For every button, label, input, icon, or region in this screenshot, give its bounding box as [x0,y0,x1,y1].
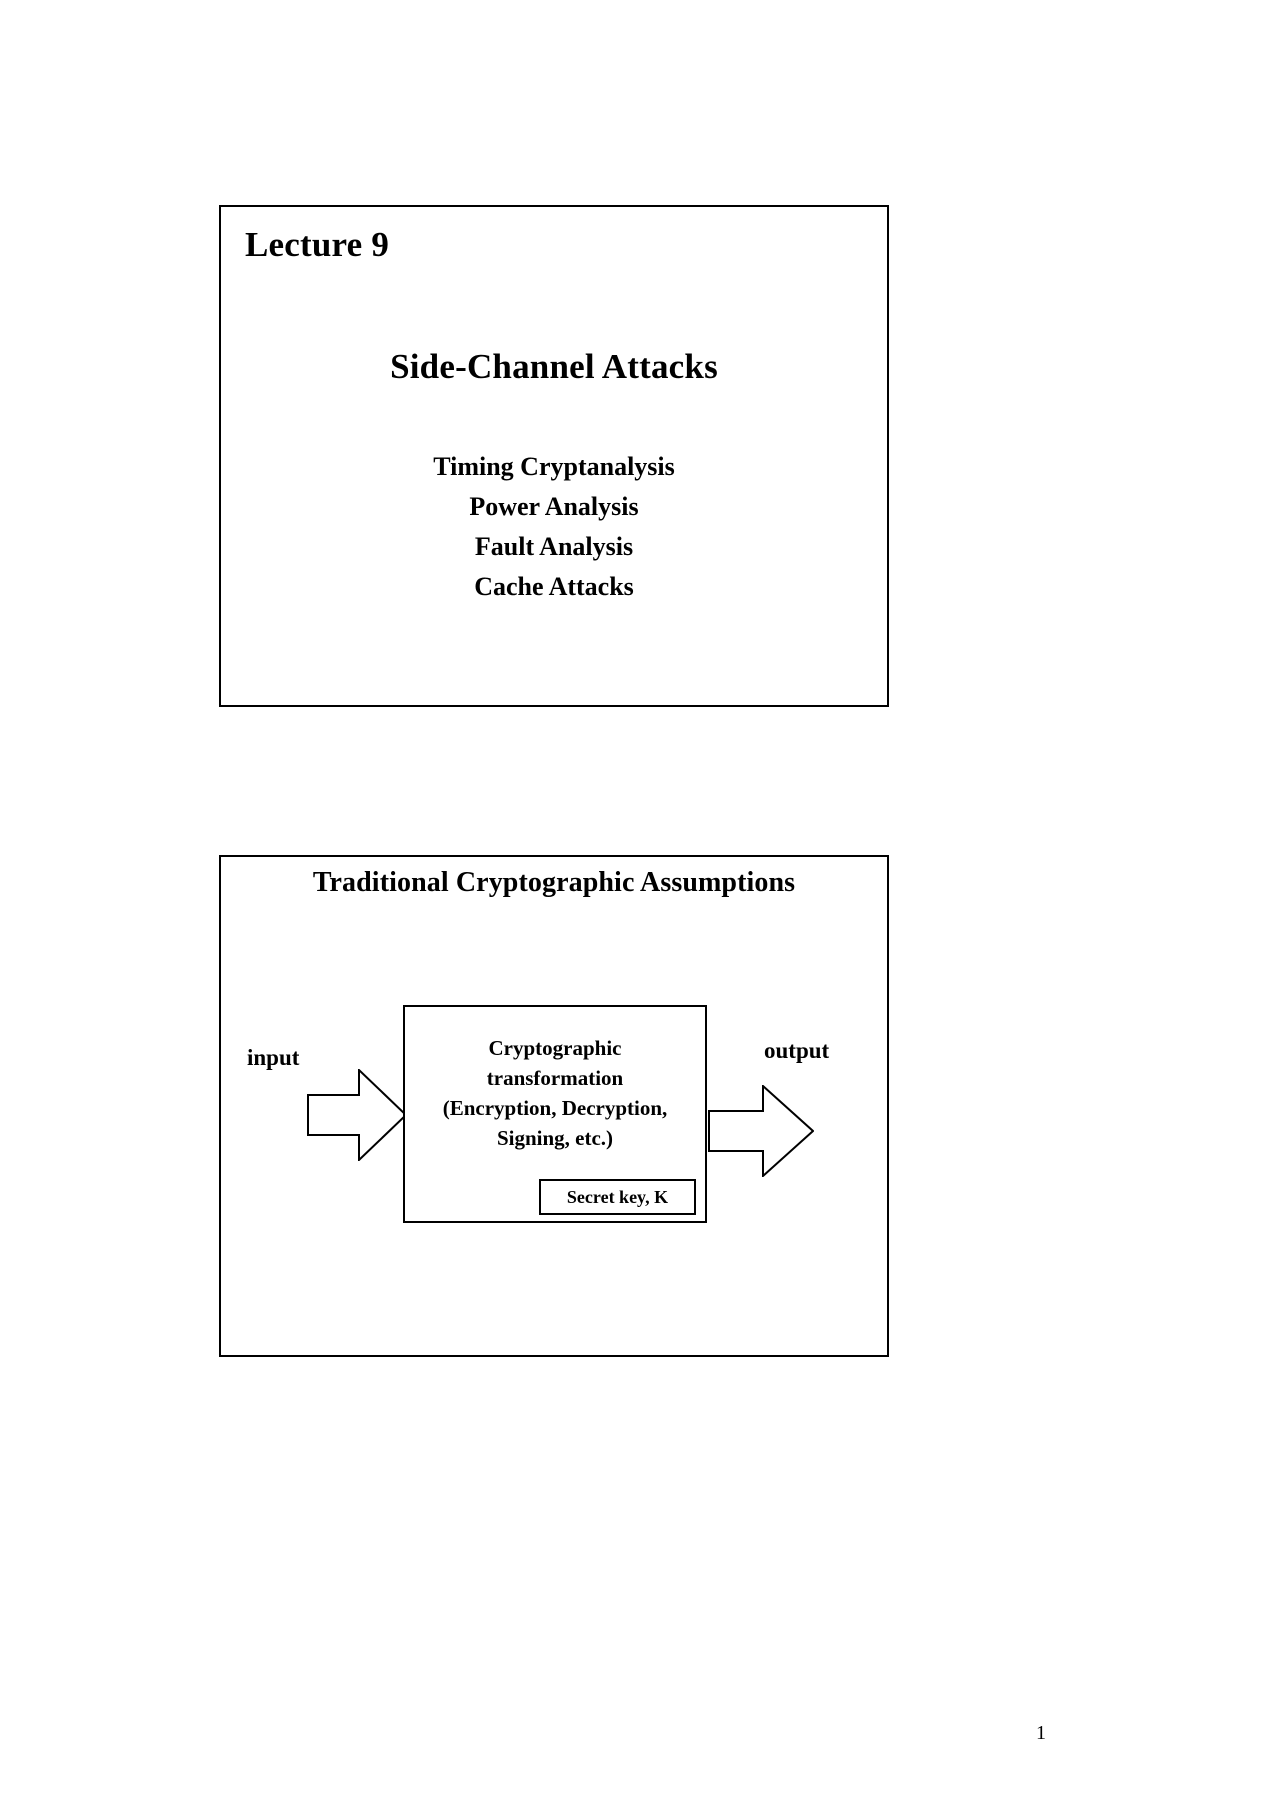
transformation-line-3: (Encryption, Decryption, [411,1093,699,1123]
transformation-line-2: transformation [411,1063,699,1093]
secret-key-box: Secret key, K [539,1179,696,1215]
topic-item-power-analysis: Power Analysis [221,487,887,527]
transformation-line-4: Signing, etc.) [411,1123,699,1153]
topic-item-timing-cryptanalysis: Timing Cryptanalysis [221,447,887,487]
transformation-line-1: Cryptographic [411,1033,699,1063]
topic-item-fault-analysis: Fault Analysis [221,527,887,567]
right-arrow-icon [307,1069,407,1166]
lecture-label: Lecture 9 [245,225,389,265]
page-number: 1 [1036,1722,1046,1745]
diagram-title: Traditional Cryptographic Assumptions [221,867,887,899]
diagram-input-label: input [247,1045,299,1071]
transformation-text: Cryptographic transformation (Encryption… [411,1033,699,1153]
topic-list: Timing Cryptanalysis Power Analysis Faul… [221,447,887,607]
diagram-output-label: output [764,1038,829,1064]
right-arrow-icon [708,1085,814,1182]
topic-item-cache-attacks: Cache Attacks [221,567,887,607]
slide-diagram-frame: Traditional Cryptographic Assumptions in… [219,855,889,1357]
cryptographic-transformation-box: Cryptographic transformation (Encryption… [403,1005,707,1223]
slide-title-frame: Lecture 9 Side-Channel Attacks Timing Cr… [219,205,889,707]
page-title: Side-Channel Attacks [221,347,887,387]
document-page: Lecture 9 Side-Channel Attacks Timing Cr… [0,0,1280,1811]
